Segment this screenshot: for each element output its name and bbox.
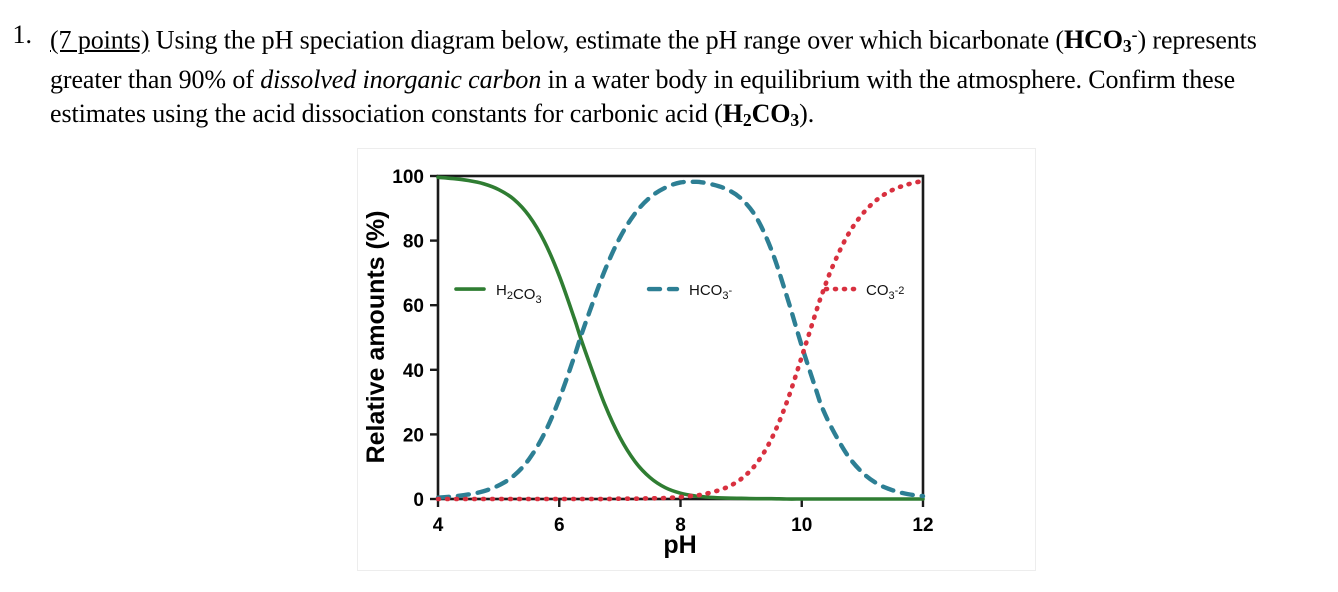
x-tick-label: 10 xyxy=(791,515,812,536)
legend-label: H2CO3 xyxy=(496,282,542,306)
x-axis-title: pH xyxy=(663,531,696,559)
ph-speciation-figure: 4681012 020406080100 H2CO3HCO3-CO3-2 pH … xyxy=(357,148,1036,571)
y-tick-label: 60 xyxy=(403,296,424,317)
carbonic-formula: (H2CO3 xyxy=(714,99,799,128)
legend-item-HCO: H2CO3 xyxy=(456,282,542,306)
series-line-h2co3 xyxy=(438,177,923,499)
chart-stage: 4681012 020406080100 H2CO3HCO3-CO3-2 pH … xyxy=(358,149,1035,570)
legend-label: HCO3- xyxy=(689,282,732,302)
y-tick-label: 0 xyxy=(413,490,424,511)
question-block: 1. (7 points) Using the pH speciation di… xyxy=(0,18,1338,137)
y-axis-ticks: 020406080100 xyxy=(392,167,438,511)
chart-series-group xyxy=(438,177,923,499)
legend-item-HCO: HCO3- xyxy=(649,282,732,302)
series-line-hco3- xyxy=(438,182,923,498)
question-text: (7 points) Using the pH speciation diagr… xyxy=(50,18,1305,137)
legend-item-CO: CO3-2 xyxy=(826,282,904,302)
chart-frame xyxy=(438,176,923,499)
x-tick-label: 4 xyxy=(433,515,444,536)
plot-border xyxy=(438,176,923,499)
chart-legend: H2CO3HCO3-CO3-2 xyxy=(456,282,904,306)
x-tick-label: 6 xyxy=(554,515,565,536)
bicarbonate-formula: (HCO3- xyxy=(1055,25,1137,54)
question-line4-end: ). xyxy=(799,99,814,128)
y-tick-label: 20 xyxy=(403,425,424,446)
question-line2b: in a water body in equilibrium xyxy=(541,65,860,94)
ph-speciation-chart: 4681012 020406080100 H2CO3HCO3-CO3-2 pH … xyxy=(358,149,1035,570)
question-line2-italic: dissolved inorganic carbon xyxy=(260,65,541,94)
y-axis-title: Relative amounts (%) xyxy=(362,211,390,464)
y-tick-label: 100 xyxy=(392,167,424,188)
x-tick-label: 12 xyxy=(912,515,933,536)
question-number: 1. xyxy=(0,18,50,52)
y-tick-label: 40 xyxy=(403,361,424,382)
y-tick-label: 80 xyxy=(403,232,424,253)
legend-label: CO3-2 xyxy=(866,282,904,302)
points-label: (7 points) xyxy=(50,25,149,54)
question-line1: Using the pH speciation diagram below, e… xyxy=(149,25,1049,54)
series-line-co3-2 xyxy=(438,181,923,499)
